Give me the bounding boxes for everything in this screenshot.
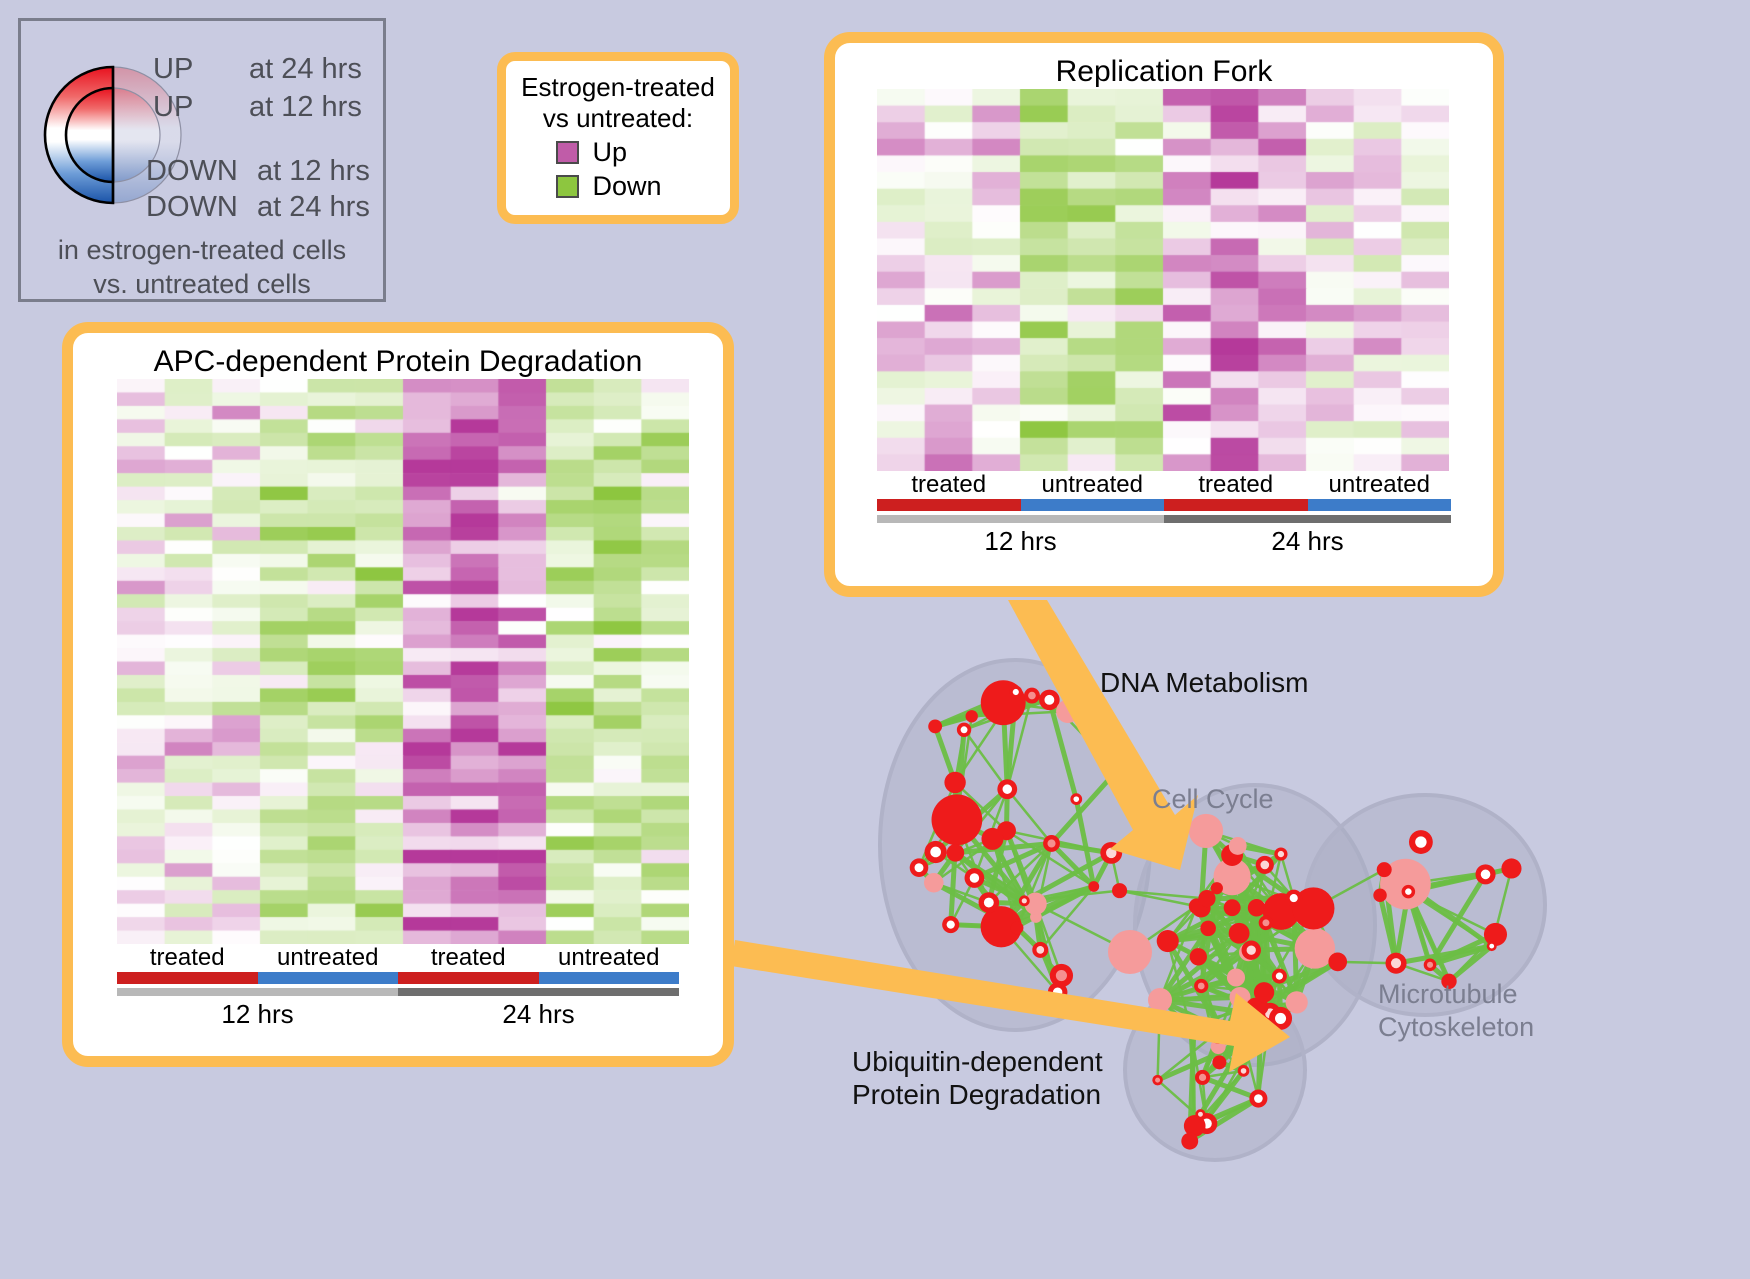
- legend-item-up: Up: [506, 137, 730, 168]
- cluster-label-ubiquitin-protein-degradation: Ubiquitin-dependent Protein Degradation: [852, 1045, 1103, 1111]
- color-key-time-down24: at 24 hrs: [257, 191, 370, 224]
- color-key-footer-line2: vs. untreated cells: [21, 267, 383, 301]
- network-node-core: [1013, 689, 1019, 695]
- legend-title-line1: Estrogen-treated: [506, 72, 730, 103]
- network-node[interactable]: [1108, 930, 1152, 974]
- panel-title-apc: APC-dependent Protein Degradation: [73, 345, 723, 379]
- color-key-label-down12: DOWN: [146, 155, 238, 188]
- group-label: treated: [117, 944, 258, 972]
- group-label: treated: [1164, 471, 1308, 499]
- network-node[interactable]: [1190, 948, 1207, 965]
- color-key-label-up24: UP: [153, 53, 193, 86]
- network-node-core: [1247, 946, 1256, 955]
- group-label: untreated: [258, 944, 399, 972]
- network-node[interactable]: [1056, 700, 1079, 723]
- network-node-core: [961, 726, 968, 733]
- network-node[interactable]: [1501, 858, 1521, 878]
- group-labels-replication-fork: treated untreated treated untreated: [877, 471, 1451, 499]
- treatment-bar-replication-fork: [877, 499, 1451, 511]
- group-labels-apc: treated untreated treated untreated: [117, 944, 679, 972]
- network-node-core: [1260, 861, 1269, 870]
- bar-treated-12: [117, 972, 258, 984]
- panel-replication-fork: Replication Fork treated untreated treat…: [824, 32, 1504, 597]
- network-node-core: [1028, 692, 1036, 700]
- cluster-label-dna-metabolism: DNA Metabolism: [1100, 666, 1309, 699]
- time-label: 24 hrs: [398, 999, 679, 1030]
- ck-text: at 24 hrs: [257, 191, 370, 223]
- legend-item-down-label: Down: [593, 171, 681, 202]
- group-label: untreated: [539, 944, 680, 972]
- ck-text: UP: [153, 91, 193, 123]
- network-node[interactable]: [1254, 982, 1274, 1002]
- group-label: untreated: [1308, 471, 1452, 499]
- cluster-label-cell-cycle: Cell Cycle: [1152, 783, 1274, 816]
- network-node-core: [1241, 1068, 1247, 1074]
- network-node[interactable]: [1088, 881, 1099, 892]
- network-node[interactable]: [947, 844, 965, 862]
- network-node-core: [1198, 983, 1205, 990]
- network-node-core: [1278, 851, 1284, 857]
- network-node-core: [1036, 946, 1044, 954]
- bar-time-12: [117, 988, 398, 996]
- network-node-core: [970, 873, 979, 882]
- network-node-core: [1427, 962, 1433, 968]
- bar-untreated-24: [1308, 499, 1452, 511]
- down-swatch-icon: [556, 175, 579, 198]
- bar-treated-24: [1164, 499, 1308, 511]
- network-node[interactable]: [1212, 1055, 1226, 1069]
- network-node[interactable]: [966, 710, 978, 722]
- network-node[interactable]: [944, 772, 965, 793]
- heatmap-apc: [117, 379, 689, 944]
- network-node-core: [1053, 987, 1062, 996]
- network-node[interactable]: [1227, 968, 1245, 986]
- network-node-core: [1391, 958, 1401, 968]
- group-label: treated: [877, 471, 1021, 499]
- network-node[interactable]: [1254, 1023, 1266, 1035]
- bar-untreated-12: [1021, 499, 1165, 511]
- network-node[interactable]: [981, 828, 1003, 850]
- network-node[interactable]: [932, 794, 983, 845]
- network-node-core: [984, 898, 994, 908]
- network-node[interactable]: [1111, 765, 1122, 776]
- network-node[interactable]: [1328, 953, 1347, 972]
- time-labels-replication-fork: 12 hrs 24 hrs: [877, 526, 1451, 557]
- network-node-core: [1276, 973, 1283, 980]
- bar-treated-24: [398, 972, 539, 984]
- time-label: 24 hrs: [1164, 526, 1451, 557]
- panel-title-replication-fork: Replication Fork: [835, 55, 1493, 89]
- bar-time-12: [877, 515, 1164, 523]
- network-node[interactable]: [1229, 923, 1250, 944]
- group-label: untreated: [1021, 471, 1165, 499]
- network-node[interactable]: [1200, 921, 1216, 937]
- time-bar-apc: [117, 988, 679, 996]
- network-node-core: [915, 863, 924, 872]
- network-node[interactable]: [1286, 991, 1308, 1013]
- treatment-bar-apc: [117, 972, 679, 984]
- figure-canvas: UP at 24 hrs UP at 12 hrs DOWN at 12 hrs…: [0, 0, 1750, 1279]
- panel-apc-dependent-protein-degradation: APC-dependent Protein Degradation treate…: [62, 322, 734, 1067]
- color-key-footer-line1: in estrogen-treated cells: [21, 233, 383, 267]
- bar-time-24: [398, 988, 679, 996]
- network-node-core: [1241, 1040, 1247, 1046]
- network-node[interactable]: [924, 873, 944, 893]
- color-key-label-up12: UP: [153, 91, 193, 124]
- network-node-core: [1047, 839, 1055, 847]
- network-node[interactable]: [1198, 890, 1215, 907]
- heatmap-replication-fork: [877, 89, 1449, 471]
- network-node-core: [1290, 894, 1298, 902]
- network-node[interactable]: [1181, 1016, 1198, 1033]
- cluster-label-microtubule-cytoskeleton: Microtubule Cytoskeleton: [1378, 978, 1534, 1044]
- bar-untreated-24: [539, 972, 680, 984]
- network-node-core: [1073, 796, 1079, 802]
- ck-text: at 24 hrs: [249, 53, 362, 85]
- color-key-panel: UP at 24 hrs UP at 12 hrs DOWN at 12 hrs…: [18, 18, 386, 302]
- network-node[interactable]: [1235, 1002, 1253, 1020]
- ck-text: UP: [153, 53, 193, 85]
- network-node-core: [1155, 1078, 1160, 1083]
- network-node-core: [1415, 836, 1426, 847]
- up-swatch-icon: [556, 141, 579, 164]
- bar-time-24: [1164, 515, 1451, 523]
- legend-title: Estrogen-treated vs untreated:: [506, 72, 730, 134]
- time-label: 12 hrs: [117, 999, 398, 1030]
- network-node-core: [1481, 870, 1491, 880]
- time-label: 12 hrs: [877, 526, 1164, 557]
- network-node[interactable]: [1377, 862, 1392, 877]
- ck-text: at 12 hrs: [257, 155, 370, 187]
- legend-item-up-label: Up: [593, 137, 681, 168]
- network-node[interactable]: [1189, 814, 1223, 848]
- network-node-core: [947, 920, 955, 928]
- network-node[interactable]: [1157, 930, 1179, 952]
- up-down-legend-panel: Estrogen-treated vs untreated: Up Down: [497, 52, 739, 224]
- network-node[interactable]: [1373, 889, 1386, 902]
- network-node[interactable]: [1229, 837, 1247, 855]
- network-node[interactable]: [928, 720, 942, 734]
- network-node-core: [1199, 1074, 1206, 1081]
- bar-untreated-12: [258, 972, 399, 984]
- legend-title-line2: vs untreated:: [506, 103, 730, 134]
- color-key-time-up12: at 12 hrs: [249, 91, 362, 124]
- ck-text: DOWN: [146, 191, 238, 223]
- color-key-label-down24: DOWN: [146, 191, 238, 224]
- network-edge: [1258, 1029, 1260, 1099]
- network-node[interactable]: [1224, 899, 1241, 916]
- network-node-core: [1044, 695, 1054, 705]
- network-node[interactable]: [1484, 923, 1507, 946]
- network-node-core: [930, 847, 941, 858]
- bar-treated-12: [877, 499, 1021, 511]
- network-diagram: [800, 600, 1750, 1279]
- group-label: treated: [398, 944, 539, 972]
- network-node-core: [1254, 1094, 1263, 1103]
- legend-item-down: Down: [506, 171, 730, 202]
- ck-text: at 12 hrs: [249, 91, 362, 123]
- network-node[interactable]: [1181, 1133, 1198, 1150]
- time-bar-replication-fork: [877, 515, 1451, 523]
- time-labels-apc: 12 hrs 24 hrs: [117, 999, 679, 1030]
- ck-text: DOWN: [146, 155, 238, 187]
- network-node[interactable]: [1209, 1025, 1228, 1044]
- network-node-core: [1489, 944, 1494, 949]
- network-node[interactable]: [1011, 921, 1024, 934]
- network-node[interactable]: [1248, 899, 1265, 916]
- network-node-core: [1106, 848, 1116, 858]
- network-node-core: [1198, 1112, 1203, 1117]
- color-key-time-up24: at 24 hrs: [249, 53, 362, 86]
- network-node-core: [1405, 888, 1411, 894]
- network-node-core: [1275, 1013, 1286, 1024]
- network-node[interactable]: [1148, 988, 1172, 1012]
- color-key-time-down12: at 12 hrs: [257, 155, 370, 188]
- network-node-core: [1056, 970, 1067, 981]
- network-node[interactable]: [1112, 883, 1127, 898]
- network-node-core: [1003, 784, 1013, 794]
- network-node-core: [1262, 919, 1269, 926]
- network-node-core: [1022, 898, 1027, 903]
